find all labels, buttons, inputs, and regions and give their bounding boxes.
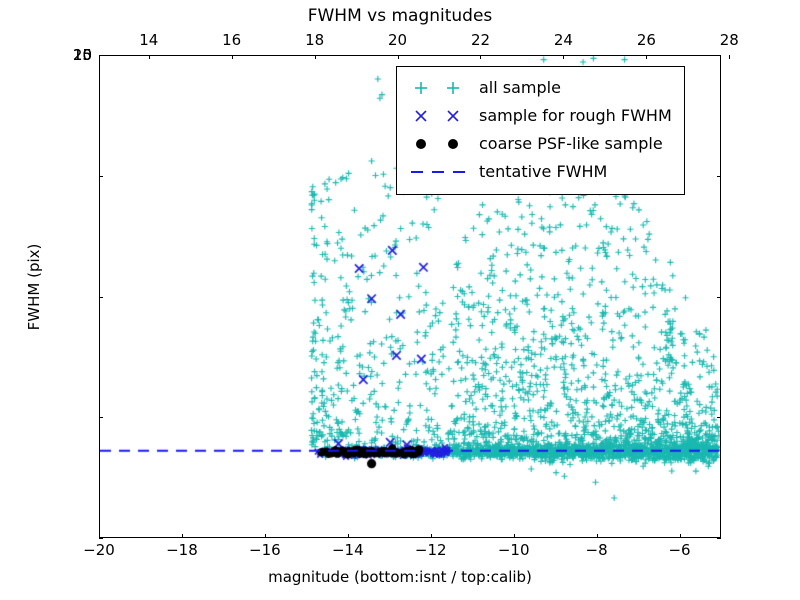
y-tick-right bbox=[717, 176, 721, 177]
y-tick-left bbox=[99, 297, 103, 298]
y-axis-label: FWHM (pix) bbox=[25, 187, 43, 387]
legend-item[interactable]: all sample bbox=[405, 74, 672, 102]
plus-marker-icon bbox=[405, 76, 479, 100]
legend-item-label: sample for rough FWHM bbox=[479, 107, 672, 125]
page-title: FWHM vs magnitudes bbox=[0, 6, 800, 26]
figure-canvas: FWHM vs magnitudes −20−18−16−14−12−10−8−… bbox=[0, 0, 800, 600]
y-tick-left bbox=[99, 55, 103, 56]
y-tick-right bbox=[717, 297, 721, 298]
y-tick-left bbox=[99, 176, 103, 177]
x-tick-bottom bbox=[431, 534, 432, 538]
y-tick-right bbox=[717, 538, 721, 539]
legend-item-label: coarse PSF-like sample bbox=[479, 135, 663, 153]
x-ticklabel-top: 16 bbox=[222, 32, 241, 48]
x-tick-top bbox=[729, 55, 730, 59]
x-tick-top bbox=[149, 55, 150, 59]
x-ticklabel-bottom: −14 bbox=[332, 542, 364, 558]
x-tick-bottom bbox=[597, 534, 598, 538]
x-axis-label: magnitude (bottom:isnt / top:calib) bbox=[0, 568, 800, 586]
x-tick-top bbox=[232, 55, 233, 59]
legend-item[interactable]: tentative FWHM bbox=[405, 158, 672, 186]
x-ticklabel-bottom: −18 bbox=[166, 542, 198, 558]
x-ticklabel-top: 24 bbox=[554, 32, 573, 48]
legend-item-label: tentative FWHM bbox=[479, 163, 607, 181]
x-ticklabel-top: 28 bbox=[720, 32, 739, 48]
x-ticklabel-top: 22 bbox=[471, 32, 490, 48]
cross-marker-icon bbox=[405, 104, 479, 128]
x-tick-bottom bbox=[514, 534, 515, 538]
x-tick-top bbox=[563, 55, 564, 59]
x-ticklabel-bottom: −8 bbox=[586, 542, 608, 558]
x-tick-top bbox=[646, 55, 647, 59]
x-ticklabel-top: 14 bbox=[139, 32, 158, 48]
legend-item[interactable]: coarse PSF-like sample bbox=[405, 130, 672, 158]
x-tick-top bbox=[398, 55, 399, 59]
legend-item[interactable]: sample for rough FWHM bbox=[405, 102, 672, 130]
x-tick-bottom bbox=[348, 534, 349, 538]
y-tick-left bbox=[99, 417, 103, 418]
x-ticklabel-bottom: −10 bbox=[498, 542, 530, 558]
x-ticklabel-top: 26 bbox=[637, 32, 656, 48]
x-ticklabel-top: 20 bbox=[388, 32, 407, 48]
x-tick-bottom bbox=[265, 534, 266, 538]
y-ticklabel: 20 bbox=[52, 47, 92, 63]
y-tick-right bbox=[717, 55, 721, 56]
x-ticklabel-bottom: −16 bbox=[249, 542, 281, 558]
x-tick-bottom bbox=[182, 534, 183, 538]
dashed-marker-icon bbox=[405, 160, 479, 184]
x-tick-bottom bbox=[680, 534, 681, 538]
x-ticklabel-top: 18 bbox=[305, 32, 324, 48]
legend[interactable]: all samplesample for rough FWHMcoarse PS… bbox=[396, 66, 685, 195]
x-tick-top bbox=[480, 55, 481, 59]
x-ticklabel-bottom: −20 bbox=[83, 542, 115, 558]
legend-item-label: all sample bbox=[479, 79, 561, 97]
x-tick-top bbox=[315, 55, 316, 59]
x-ticklabel-bottom: −12 bbox=[415, 542, 447, 558]
dot-marker-icon bbox=[405, 132, 479, 156]
x-ticklabel-bottom: −6 bbox=[668, 542, 690, 558]
y-tick-right bbox=[717, 417, 721, 418]
y-tick-left bbox=[99, 538, 103, 539]
